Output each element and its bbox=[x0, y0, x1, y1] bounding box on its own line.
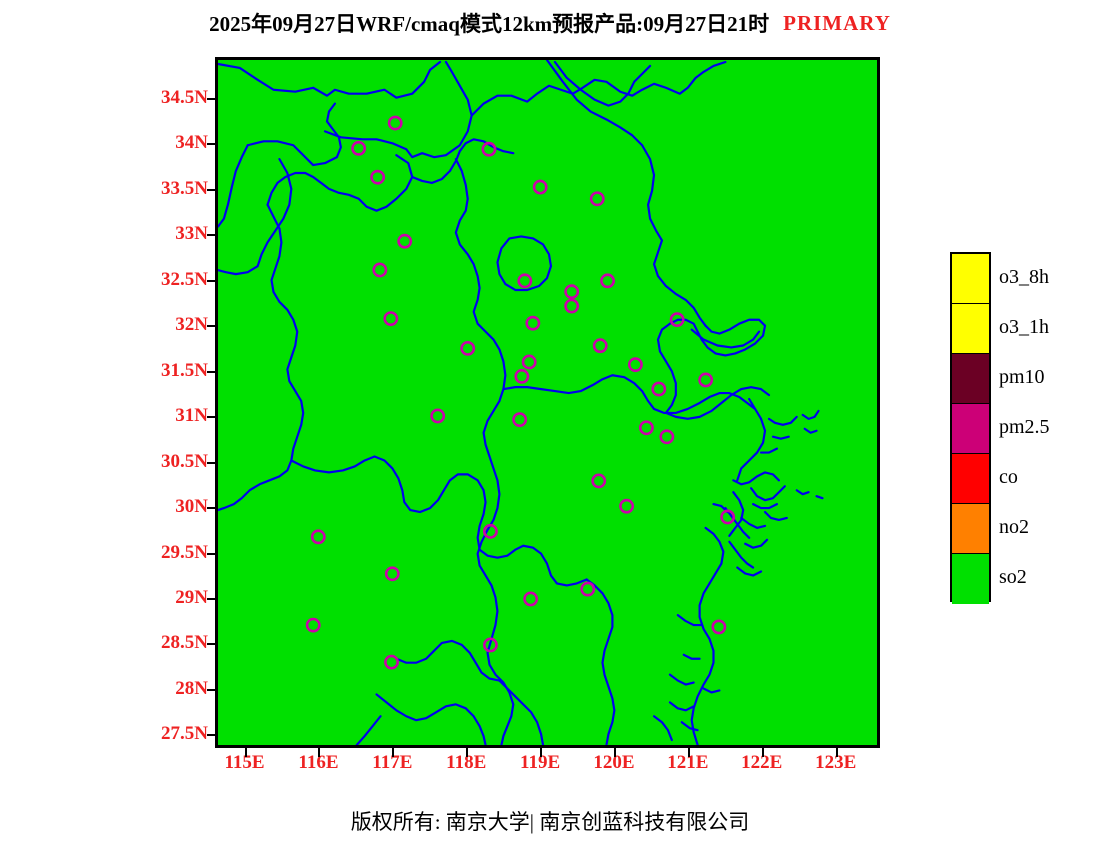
title-primary-tag: PRIMARY bbox=[783, 11, 891, 35]
y-axis-tick-label: 32.5N bbox=[161, 269, 208, 291]
station-marker[interactable] bbox=[713, 621, 725, 633]
station-marker[interactable] bbox=[601, 275, 613, 287]
y-axis-tick-mark bbox=[207, 598, 216, 600]
station-marker[interactable] bbox=[534, 181, 546, 193]
x-axis-tick-mark bbox=[614, 748, 616, 757]
legend-label-o3-1h: o3_1h bbox=[999, 302, 1049, 352]
station-marker[interactable] bbox=[594, 340, 606, 352]
page-title: 2025年09月27日WRF/cmaq模式12km预报产品:09月27日21时P… bbox=[0, 8, 1100, 36]
y-axis-tick-label: 28.5N bbox=[161, 632, 208, 654]
legend-swatch-o3-1h[interactable] bbox=[952, 304, 989, 354]
station-marker[interactable] bbox=[312, 531, 324, 543]
y-axis-tick-label: 34N bbox=[175, 132, 208, 154]
legend-label-pm10: pm10 bbox=[999, 352, 1045, 402]
legend-label-pm2-5: pm2.5 bbox=[999, 402, 1050, 452]
map-plot-area[interactable] bbox=[215, 57, 880, 748]
legend-swatch-pm2-5[interactable] bbox=[952, 404, 989, 454]
station-marker[interactable] bbox=[514, 414, 526, 426]
y-axis-tick-label: 31N bbox=[175, 405, 208, 427]
y-axis-tick-label: 27.5N bbox=[161, 723, 208, 745]
y-axis-tick-mark bbox=[207, 98, 216, 100]
y-axis-tick-mark bbox=[207, 734, 216, 736]
y-axis-tick-mark bbox=[207, 416, 216, 418]
y-axis-tick-mark bbox=[207, 462, 216, 464]
legend-label-column: o3_8ho3_1hpm10pm2.5cono2so2 bbox=[999, 252, 1090, 602]
legend-swatch-so2[interactable] bbox=[952, 554, 989, 604]
x-axis-tick-mark bbox=[688, 748, 690, 757]
legend-label-so2: so2 bbox=[999, 552, 1027, 602]
station-marker[interactable] bbox=[582, 583, 594, 595]
legend-swatch-column bbox=[950, 252, 991, 602]
legend-swatch-o3-8h[interactable] bbox=[952, 254, 989, 304]
station-marker[interactable] bbox=[566, 286, 578, 298]
station-marker[interactable] bbox=[307, 619, 319, 631]
map-boundaries bbox=[218, 60, 822, 745]
x-axis-labels: 115E116E117E118E119E120E121E122E123E bbox=[215, 752, 880, 782]
legend: o3_8ho3_1hpm10pm2.5cono2so2 bbox=[950, 252, 1090, 602]
y-axis-tick-label: 30.5N bbox=[161, 451, 208, 473]
station-marker[interactable] bbox=[432, 410, 444, 422]
y-axis-tick-label: 33.5N bbox=[161, 178, 208, 200]
forecast-map-page: 2025年09月27日WRF/cmaq模式12km预报产品:09月27日21时P… bbox=[0, 0, 1100, 850]
x-axis-tick-mark bbox=[466, 748, 468, 757]
y-axis-tick-label: 29N bbox=[175, 587, 208, 609]
station-marker[interactable] bbox=[593, 475, 605, 487]
y-axis-tick-label: 29.5N bbox=[161, 542, 208, 564]
y-axis-tick-mark bbox=[207, 280, 216, 282]
y-axis-tick-mark bbox=[207, 325, 216, 327]
station-marker[interactable] bbox=[516, 370, 528, 382]
station-marker[interactable] bbox=[653, 383, 665, 395]
station-marker[interactable] bbox=[385, 312, 397, 324]
y-axis-tick-mark bbox=[207, 507, 216, 509]
station-marker[interactable] bbox=[372, 171, 384, 183]
station-marker[interactable] bbox=[374, 264, 386, 276]
station-marker[interactable] bbox=[462, 342, 474, 354]
y-axis-tick-mark bbox=[207, 189, 216, 191]
station-markers bbox=[307, 117, 734, 668]
legend-label-no2: no2 bbox=[999, 502, 1029, 552]
station-marker[interactable] bbox=[661, 431, 673, 443]
title-main-text: 2025年09月27日WRF/cmaq模式12km预报产品:09月27日21时 bbox=[209, 12, 769, 36]
station-marker[interactable] bbox=[620, 500, 632, 512]
y-axis-tick-mark bbox=[207, 643, 216, 645]
y-axis-tick-mark bbox=[207, 553, 216, 555]
y-axis-tick-label: 30N bbox=[175, 496, 208, 518]
x-axis-tick-mark bbox=[318, 748, 320, 757]
x-axis-tick-mark bbox=[540, 748, 542, 757]
y-axis-tick-label: 32N bbox=[175, 314, 208, 336]
y-axis-tick-mark bbox=[207, 143, 216, 145]
station-marker[interactable] bbox=[629, 358, 641, 370]
legend-swatch-co[interactable] bbox=[952, 454, 989, 504]
station-marker[interactable] bbox=[352, 142, 364, 154]
x-axis-tick-mark bbox=[392, 748, 394, 757]
legend-label-o3-8h: o3_8h bbox=[999, 252, 1049, 302]
map-canvas bbox=[218, 60, 877, 745]
y-axis-tick-mark bbox=[207, 371, 216, 373]
station-marker[interactable] bbox=[389, 117, 401, 129]
station-marker[interactable] bbox=[566, 300, 578, 312]
station-marker[interactable] bbox=[519, 275, 531, 287]
legend-swatch-no2[interactable] bbox=[952, 504, 989, 554]
x-axis-tick-mark bbox=[836, 748, 838, 757]
station-marker[interactable] bbox=[591, 193, 603, 205]
station-marker[interactable] bbox=[525, 593, 537, 605]
legend-swatch-pm10[interactable] bbox=[952, 354, 989, 404]
x-axis-tick-mark bbox=[245, 748, 247, 757]
station-marker[interactable] bbox=[385, 656, 397, 668]
x-axis-tick-mark bbox=[762, 748, 764, 757]
y-axis-tick-label: 28N bbox=[175, 678, 208, 700]
station-marker[interactable] bbox=[399, 235, 411, 247]
station-marker[interactable] bbox=[523, 356, 535, 368]
copyright-text: 版权所有: 南京大学| 南京创蓝科技有限公司 bbox=[351, 810, 750, 834]
y-axis-tick-label: 34.5N bbox=[161, 87, 208, 109]
y-axis-tick-label: 31.5N bbox=[161, 360, 208, 382]
station-marker[interactable] bbox=[700, 374, 712, 386]
station-marker[interactable] bbox=[640, 422, 652, 434]
footer: 版权所有: 南京大学| 南京创蓝科技有限公司 bbox=[0, 806, 1100, 840]
y-axis-tick-mark bbox=[207, 234, 216, 236]
y-axis-tick-mark bbox=[207, 689, 216, 691]
y-axis-tick-label: 33N bbox=[175, 223, 208, 245]
y-axis-labels: 34.5N34N33.5N33N32.5N32N31.5N31N30.5N30N… bbox=[120, 57, 208, 748]
legend-label-co: co bbox=[999, 452, 1018, 502]
station-marker[interactable] bbox=[386, 568, 398, 580]
station-marker[interactable] bbox=[527, 317, 539, 329]
